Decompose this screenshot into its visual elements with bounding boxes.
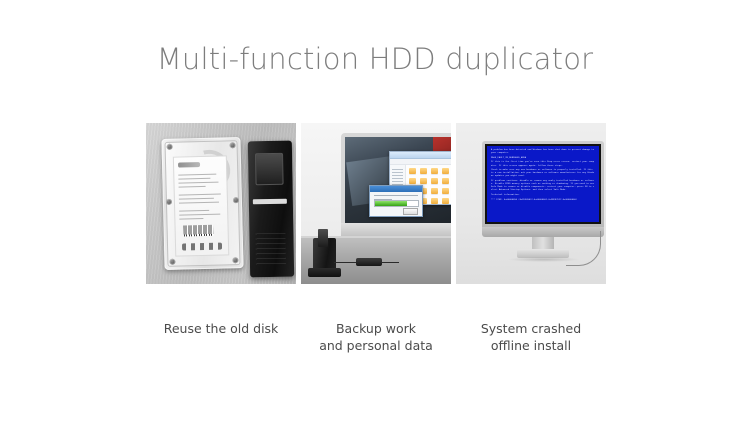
nav-tree-item[interactable] — [392, 172, 403, 173]
hdd-screw — [167, 144, 173, 150]
caption-line: Backup work — [301, 320, 451, 337]
hard-disk-drive-icon — [161, 137, 243, 270]
progress-bar — [374, 200, 419, 207]
bsod-line: Check to make sure any new hardware or s… — [491, 169, 595, 178]
dialog-title-bar[interactable] — [370, 186, 422, 192]
folder-icon[interactable] — [420, 178, 427, 184]
dock-cable — [334, 262, 358, 263]
nav-tree-item[interactable] — [392, 175, 403, 176]
hdd-label-text — [179, 202, 219, 204]
hdd-label-text — [178, 174, 216, 176]
bsod-line: A problem has been detected and Windows … — [491, 149, 595, 155]
caption-line: System crashed — [456, 320, 606, 337]
blue-screen-of-death: A problem has been detected and Windows … — [487, 146, 599, 222]
dialog-text-line — [374, 195, 418, 196]
caption-line: offline install — [456, 337, 606, 354]
power-adapter — [356, 258, 382, 266]
dock-base — [308, 268, 341, 277]
hdd-label-text — [179, 198, 214, 200]
folder-icon[interactable] — [431, 188, 438, 194]
hdd-label-text — [179, 186, 206, 188]
feature-image-backup-data — [301, 123, 451, 284]
page-title: Multi-function HDD duplicator — [0, 42, 750, 76]
folder-icon[interactable] — [431, 178, 438, 184]
dialog-cancel-button[interactable] — [403, 208, 418, 215]
hdd-label-text — [178, 178, 210, 180]
hdd-brand-logo — [178, 162, 200, 168]
bsod-line: If this is the first time you've seen th… — [491, 161, 595, 167]
folder-icon[interactable] — [409, 178, 416, 184]
drive-enclosure — [248, 141, 294, 278]
folder-icon[interactable] — [442, 198, 449, 204]
caption-line: and personal data — [301, 337, 451, 354]
enclosure-label-strip — [253, 199, 287, 205]
power-cable — [381, 262, 399, 263]
feature-caption-row: Reuse the old disk Backup work and perso… — [146, 320, 608, 354]
folder-icon[interactable] — [442, 178, 449, 184]
desktop-monitor: A problem has been detected and Windows … — [482, 141, 604, 227]
inserted-hard-drive — [318, 229, 328, 247]
hdd-label-text — [179, 218, 203, 220]
hdd-screw — [232, 257, 238, 263]
hdd-docking-station — [313, 238, 336, 276]
hdd-label-text — [179, 194, 221, 196]
bsod-stop-code: PAGE_FAULT_IN_NONPAGED_AREA — [491, 157, 595, 160]
hdd-label-text — [179, 214, 220, 216]
folder-icon[interactable] — [442, 168, 449, 174]
window-title-bar[interactable] — [390, 152, 451, 159]
feature-image-strip: A problem has been detected and Windows … — [146, 123, 608, 284]
enclosure-drive-slot — [255, 153, 284, 185]
feature-image-system-crashed: A problem has been detected and Windows … — [456, 123, 606, 284]
feature-image-reuse-old-disk — [146, 123, 296, 284]
nav-tree-item[interactable] — [392, 169, 403, 170]
hdd-label-text — [178, 182, 218, 184]
hdd-label — [173, 155, 229, 256]
product-feature-page: Multi-function HDD duplicator — [0, 0, 750, 444]
monitor-bezel: A problem has been detected and Windows … — [485, 144, 601, 224]
nav-tree-item[interactable] — [392, 178, 403, 179]
hdd-certification-marks — [182, 243, 222, 251]
computer-screen — [345, 137, 451, 223]
nav-tree-item[interactable] — [392, 181, 403, 182]
monitor-chin — [341, 223, 451, 236]
hdd-label-text — [179, 210, 209, 212]
monitor-stand-neck — [532, 237, 554, 249]
bsod-technical-line: *** STOP: 0x00000050 (0xFD3094C2,0x00000… — [491, 199, 595, 202]
caption-reuse-old-disk: Reuse the old disk — [146, 320, 296, 354]
enclosure-vents — [255, 233, 286, 268]
folder-icon[interactable] — [442, 188, 449, 194]
caption-line: Reuse the old disk — [146, 320, 296, 337]
folder-icon[interactable] — [431, 168, 438, 174]
folder-icon[interactable] — [420, 168, 427, 174]
folder-icon[interactable] — [409, 168, 416, 174]
caption-system-crashed: System crashed offline install — [456, 320, 606, 354]
folder-icon[interactable] — [431, 198, 438, 204]
hdd-barcode — [184, 225, 214, 237]
copy-progress-dialog[interactable] — [369, 185, 423, 217]
progress-bar-fill — [375, 201, 407, 206]
bsod-line: Technical information: — [491, 194, 595, 197]
all-in-one-computer — [341, 133, 451, 236]
monitor-power-cable — [566, 231, 601, 266]
caption-backup-data: Backup work and personal data — [301, 320, 451, 354]
bsod-line: If problems continue, disable or remove … — [491, 180, 595, 192]
